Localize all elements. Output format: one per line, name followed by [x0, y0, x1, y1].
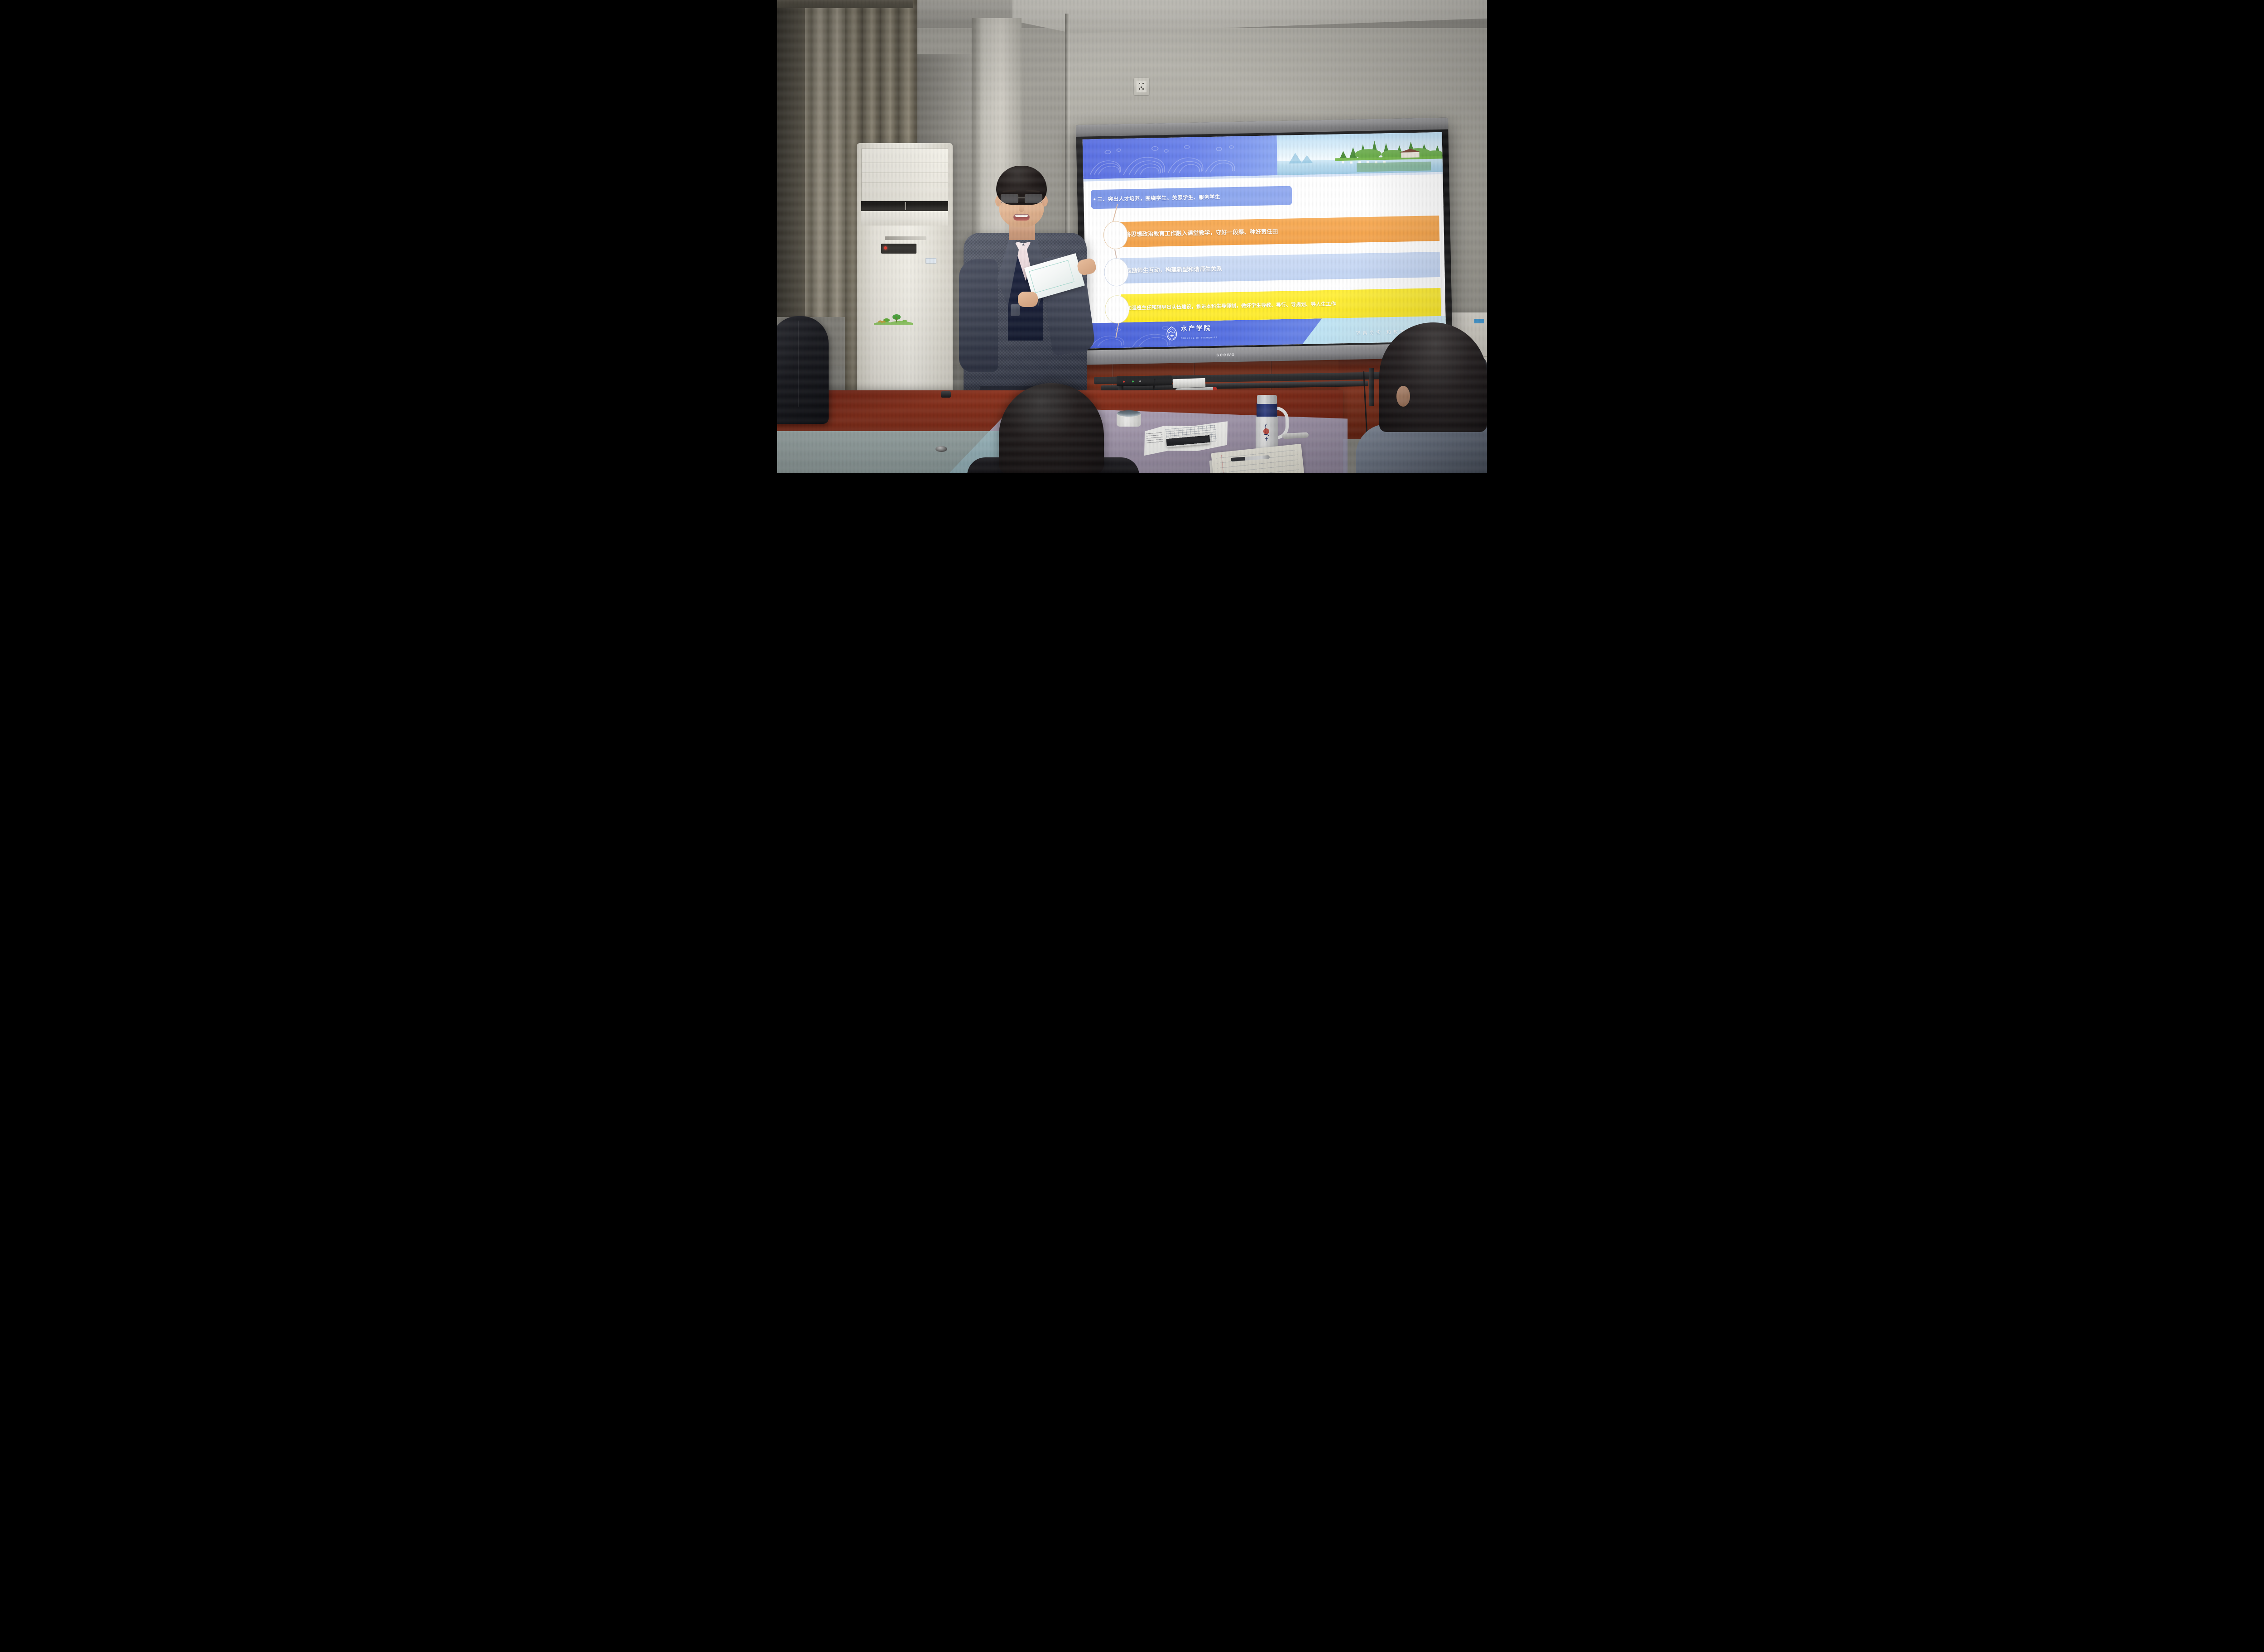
ac-brand-text	[885, 236, 926, 240]
ac-power-led-icon	[884, 246, 887, 250]
slide-header-band	[1083, 132, 1443, 179]
display-screen[interactable]: 三、突出人才培养，围绕学生、关照学生、服务学生 将思想政治教育工作融入课堂教学，…	[1083, 132, 1446, 349]
table-cable-grommet-icon	[935, 446, 947, 452]
bullet-text: 鼓励师生互动，构建新型和谐师生关系	[1126, 265, 1222, 274]
ac-air-vent	[861, 201, 948, 211]
page-title: 三、突出人才培养，围绕学生、关照学生、服务学生	[1097, 193, 1220, 203]
av-receiver-box	[1117, 375, 1172, 386]
ac-grille	[861, 149, 948, 201]
college-name-cn: 水产学院	[1181, 324, 1212, 332]
presenter-nose	[1019, 205, 1024, 212]
air-conditioner	[857, 143, 953, 407]
ac-lower-panel	[861, 211, 948, 226]
presenter-left-arm	[959, 259, 998, 372]
college-logo: 水产学院 COLLEGE OF FISHERIES	[1166, 324, 1218, 341]
display-brand-label: seewo	[1216, 352, 1235, 358]
bullet-text: 加强班主任和辅导员队伍建设，推进本科生导师制，做好学生导教、导行、导规划、导人生…	[1127, 301, 1336, 312]
curtain-dark-fold	[777, 0, 805, 317]
leather-chair	[777, 316, 829, 424]
thermos-flask	[1252, 395, 1281, 455]
cup	[1117, 410, 1141, 427]
presentation-slide: 三、突出人才培养，围绕学生、关照学生、服务学生 将思想政治教育工作融入课堂教学，…	[1083, 132, 1446, 349]
wave-pattern-icon	[1083, 135, 1292, 179]
title-bullet-icon	[1094, 198, 1095, 200]
remote-control[interactable]	[1173, 378, 1206, 389]
bullet-bar-orange: 将思想政治教育工作融入课堂教学，守好一段渠、种好责任田	[1119, 216, 1439, 247]
curtain-rod	[777, 0, 913, 8]
attendee-ear	[1396, 386, 1410, 407]
bullet-bar-blue: 鼓励师生互动，构建新型和谐师生关系	[1120, 252, 1440, 283]
presenter	[957, 166, 1093, 401]
fisheries-shield-icon	[1166, 326, 1178, 341]
presenter-pocket	[1011, 304, 1020, 316]
stand-leg	[1369, 368, 1374, 406]
power-socket-icon	[1134, 78, 1149, 95]
attendee-head-right	[1379, 322, 1487, 432]
ac-spec-label	[926, 258, 936, 264]
presenter-hand	[1018, 292, 1038, 307]
presenter-mouth	[1013, 214, 1030, 221]
college-name-en: COLLEGE OF FISHERIES	[1181, 336, 1218, 340]
ac-nature-decal-icon	[873, 312, 914, 325]
campus-photo	[1276, 132, 1443, 175]
table-clip	[941, 391, 951, 398]
bullet-text: 将思想政治教育工作融入课堂教学，守好一段渠、种好责任田	[1125, 228, 1278, 239]
eyeglasses-icon	[1000, 194, 1043, 203]
bullet-group: 将思想政治教育工作融入课堂教学，守好一段渠、种好责任田 鼓励师生互动，构建新型和…	[1084, 208, 1446, 329]
slide-title-bar: 三、突出人才培养，围绕学生、关照学生、服务学生	[1091, 186, 1292, 209]
meeting-room-photo: 抗击疫情 助力 十二五	[777, 0, 1487, 473]
